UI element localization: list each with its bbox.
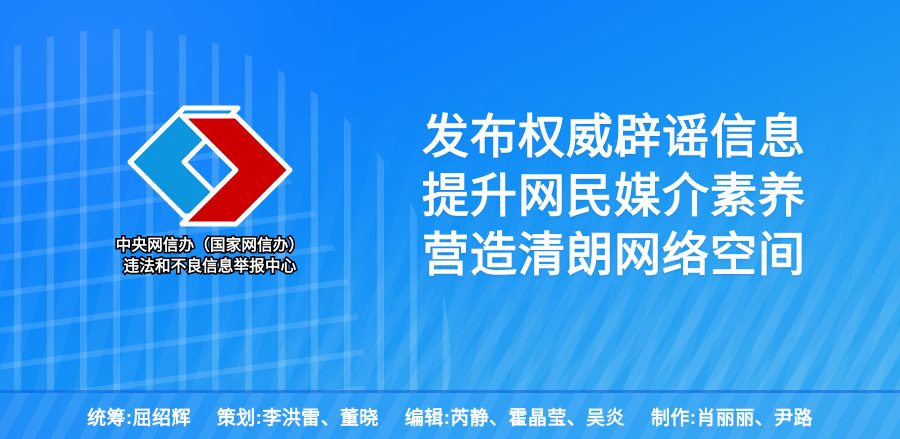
poster-canvas: 中央网信办（国家网信办） 违法和不良信息举报中心 发布权威辟谣信息 提升网民媒介… [0,0,900,439]
credit-editor: 编辑:芮静、霍晶莹、吴炎 [405,403,625,430]
jubao-logo-icon [126,104,294,228]
emblem-caption-line1: 中央网信办（国家网信办） [60,236,360,255]
slogan-line-3: 营造清朗网络空间 [422,226,806,285]
credit-producer: 统筹:屈绍辉 [87,403,191,430]
slogan-line-1: 发布权威辟谣信息 [422,108,806,167]
credits-bar: 统筹:屈绍辉 策划:李洪雷、董晓 编辑:芮静、霍晶莹、吴炎 制作:肖丽丽、尹路 [0,393,900,439]
credit-planner: 策划:李洪雷、董晓 [217,403,379,430]
slogan-line-2: 提升网民媒介素养 [422,167,806,226]
emblem-block: 中央网信办（国家网信办） 违法和不良信息举报中心 [60,104,360,276]
credit-designer: 制作:肖丽丽、尹路 [651,403,813,430]
credits-list: 统筹:屈绍辉 策划:李洪雷、董晓 编辑:芮静、霍晶莹、吴炎 制作:肖丽丽、尹路 [87,403,813,430]
slogan-block: 发布权威辟谣信息 提升网民媒介素养 营造清朗网络空间 [422,108,806,285]
emblem-caption-line2: 违法和不良信息举报中心 [60,257,360,276]
